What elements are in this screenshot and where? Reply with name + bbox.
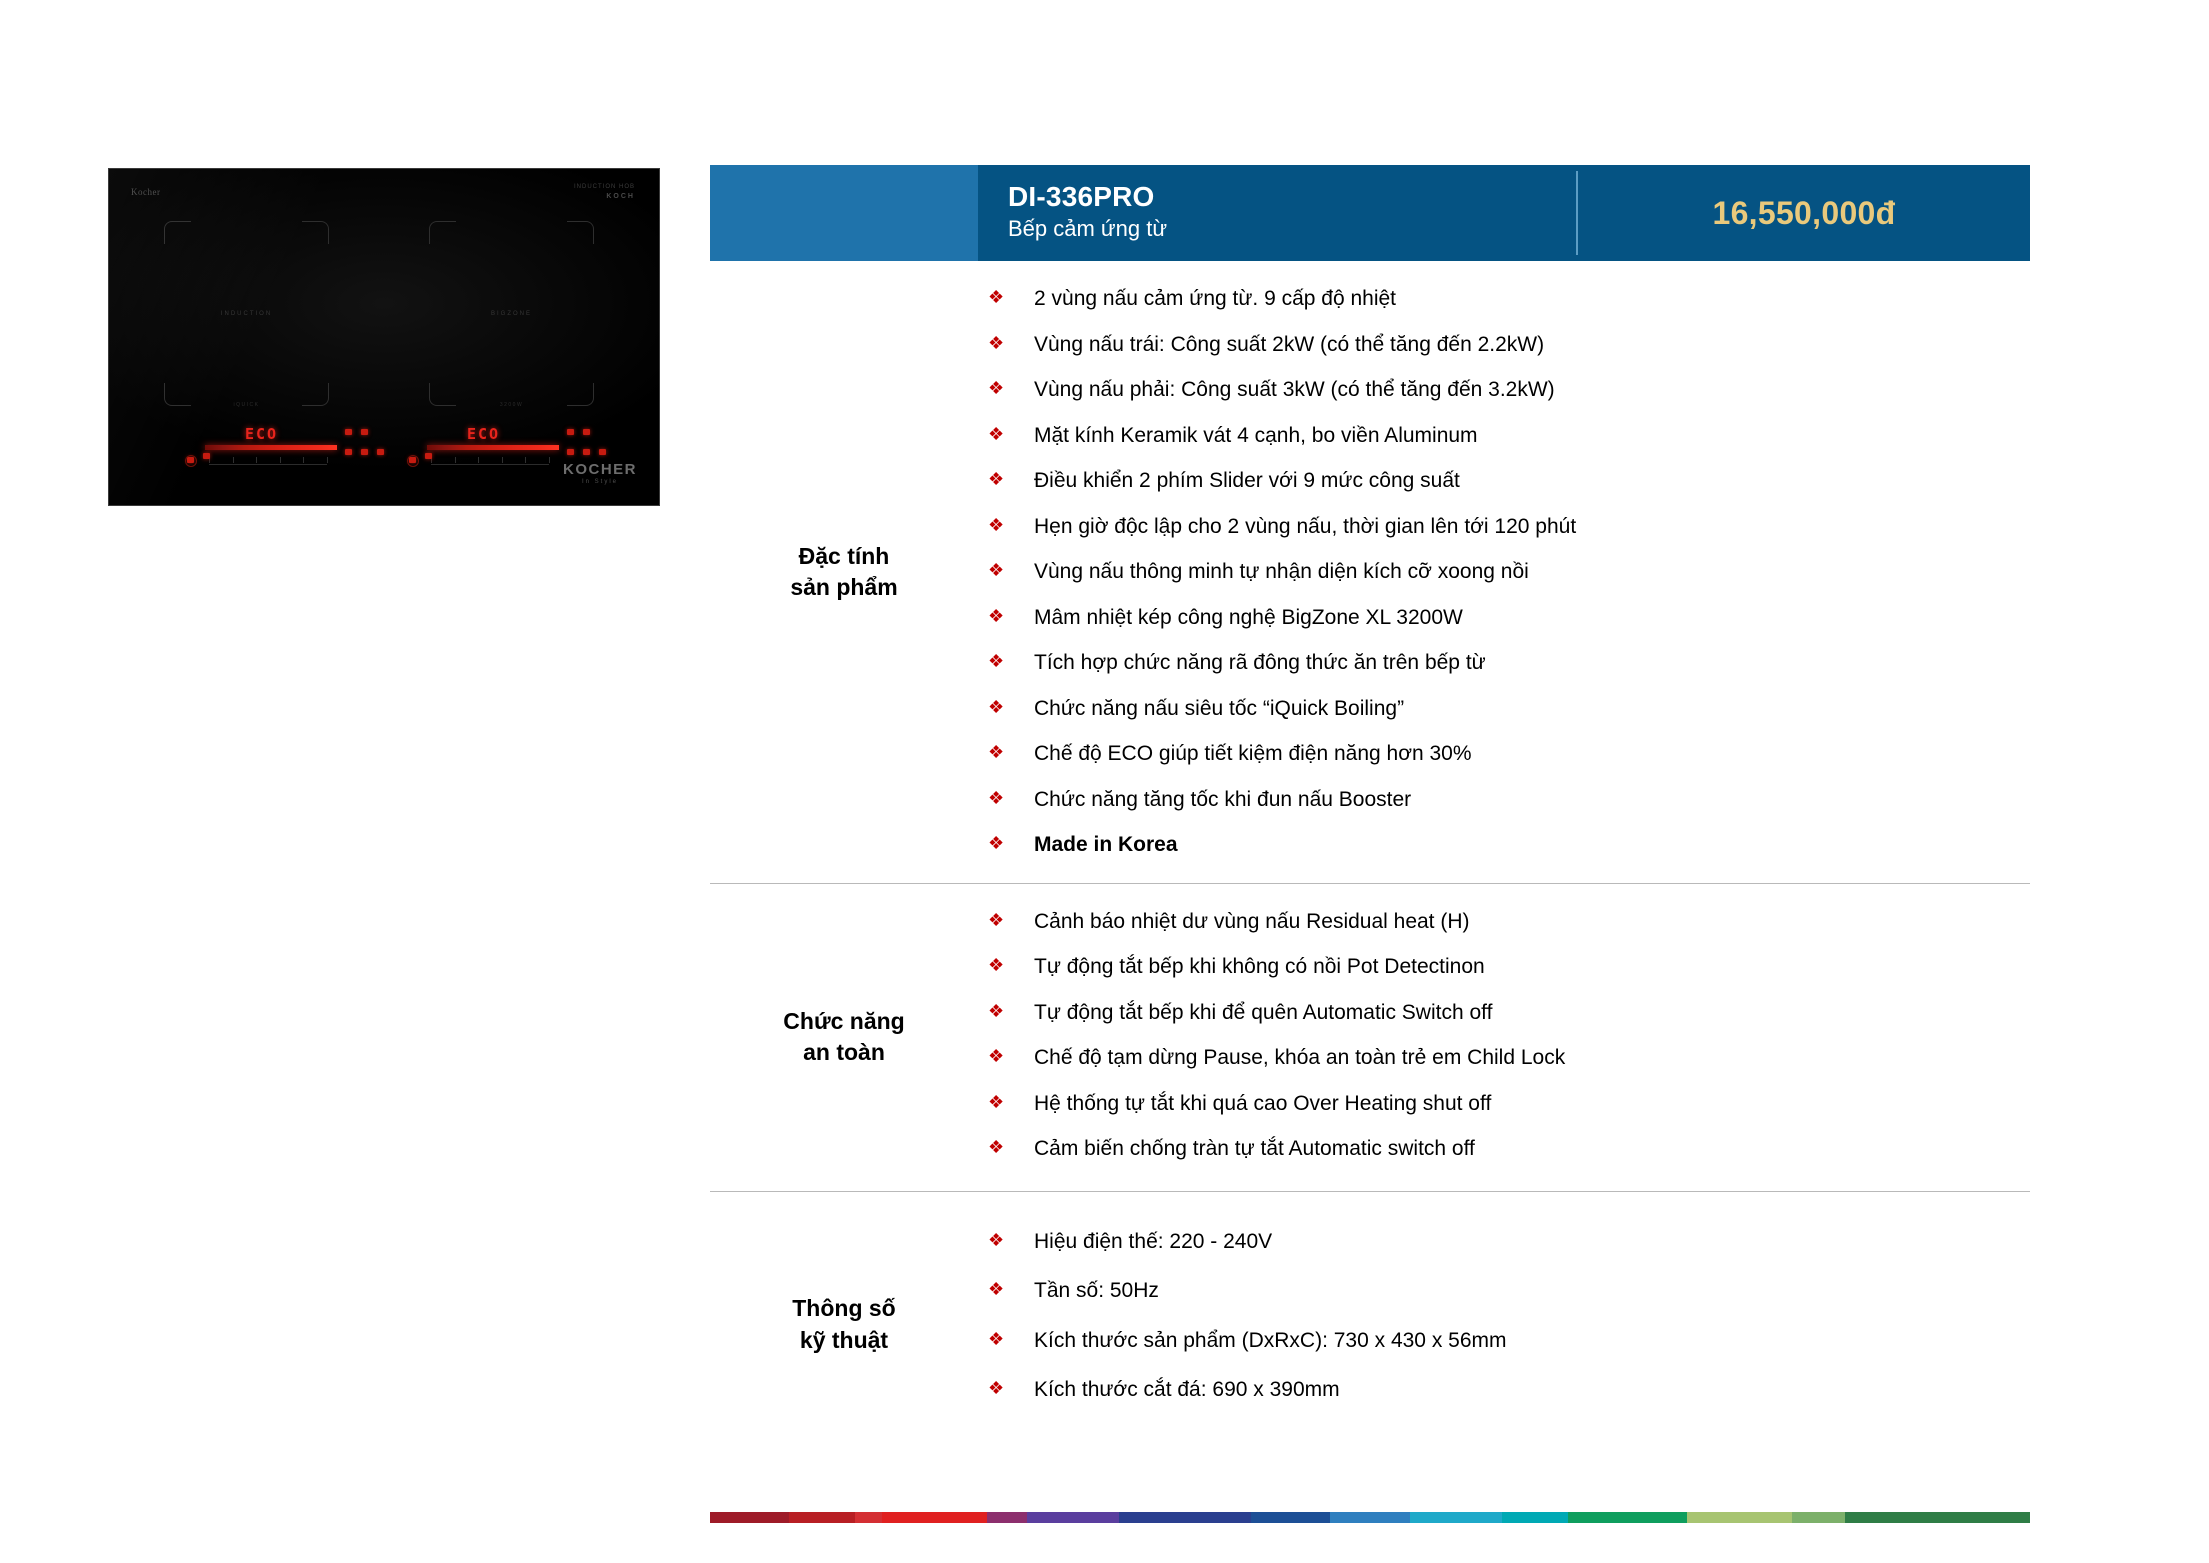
list-item: ❖ Hẹn giờ độc lập cho 2 vùng nấu, thời g…	[988, 511, 2030, 543]
list-item-label: Vùng nấu phải: Công suất 3kW (có thể tăn…	[1034, 374, 1555, 406]
cooktop-top-right-line1: INDUCTION HOB	[574, 183, 635, 192]
section-row-safety: Chức năng an toàn ❖ Cảnh báo nhiệt dư vù…	[710, 884, 2030, 1192]
list-item: ❖ Điều khiển 2 phím Slider với 9 mức côn…	[988, 465, 2030, 497]
bullet-diamond-icon: ❖	[988, 997, 1034, 1026]
list-item: ❖ Tự động tắt bếp khi không có nồi Pot D…	[988, 951, 2030, 983]
product-image: Kocher INDUCTION HOB KOCH INDUCTION iQUI…	[108, 168, 660, 506]
list-item-label: Kích thước sản phẩm (DxRxC): 730 x 430 x…	[1034, 1325, 1507, 1357]
list-item-label: Hẹn giờ độc lập cho 2 vùng nấu, thời gia…	[1034, 511, 1576, 543]
zone-corner-icon	[302, 221, 329, 244]
safety-list: ❖ Cảnh báo nhiệt dư vùng nấu Residual he…	[978, 884, 2030, 1191]
bullet-diamond-icon: ❖	[988, 420, 1034, 449]
zone-sublabel-right: 3200W	[429, 402, 594, 408]
list-item-label: Kích thước cắt đá: 690 x 390mm	[1034, 1374, 1340, 1406]
bullet-diamond-icon: ❖	[988, 556, 1034, 585]
list-item: ❖ Tần số: 50Hz	[988, 1275, 2030, 1307]
cooktop-top-right-mark: INDUCTION HOB KOCH	[574, 183, 635, 203]
pause-button-right[interactable]	[567, 449, 574, 455]
list-item: ❖ Kích thước cắt đá: 690 x 390mm	[988, 1374, 2030, 1406]
lock-button-left[interactable]	[203, 453, 210, 459]
footer-color-segment	[855, 1512, 881, 1523]
pause-button-left[interactable]	[345, 449, 352, 455]
list-item: ❖ Kích thước sản phẩm (DxRxC): 730 x 430…	[988, 1325, 2030, 1357]
control-panel-left[interactable]: ECO	[187, 427, 377, 473]
list-item-label: Mâm nhiệt kép công nghệ BigZone XL 3200W	[1034, 602, 1463, 634]
list-item-label: Tần số: 50Hz	[1034, 1275, 1159, 1307]
bullet-diamond-icon: ❖	[988, 829, 1034, 858]
section-label-features: Đặc tính sản phẩm	[710, 541, 978, 603]
list-item: ❖ Vùng nấu phải: Công suất 3kW (có thể t…	[988, 374, 2030, 406]
footer-color-segment	[1845, 1512, 2030, 1523]
list-item: ❖ Cảm biến chống tràn tự tắt Automatic s…	[988, 1133, 2030, 1165]
bullet-diamond-icon: ❖	[988, 329, 1034, 358]
specification-panel: DI-336PRO Bếp cảm ứng từ 16,550,000đ Đặc…	[710, 165, 2030, 1458]
list-item-label: Hệ thống tự tắt khi quá cao Over Heating…	[1034, 1088, 1491, 1120]
bullet-diamond-icon: ❖	[988, 1275, 1034, 1304]
display-eco-left: ECO	[245, 425, 278, 443]
list-item: ❖ Chế độ ECO giúp tiết kiệm điện năng hơ…	[988, 738, 2030, 770]
list-item: ❖ Mặt kính Keramik vát 4 cạnh, bo viền A…	[988, 420, 2030, 452]
cooking-zone-right: BIGZONE 3200W	[429, 221, 594, 406]
zone-corner-icon	[567, 221, 594, 244]
footer-color-segment	[710, 1512, 789, 1523]
header-accent-block	[710, 165, 978, 261]
section-label-line2: an toàn	[716, 1037, 972, 1068]
induction-cooktop-illustration: Kocher INDUCTION HOB KOCH INDUCTION iQUI…	[108, 168, 660, 506]
section-row-features: Đặc tính sản phẩm ❖ 2 vùng nấu cảm ứng t…	[710, 261, 2030, 884]
list-item-label: Chế độ tạm dừng Pause, khóa an toàn trẻ …	[1034, 1042, 1565, 1074]
zone-sublabel-left: iQUICK	[164, 402, 329, 408]
list-item-label: Vùng nấu thông minh tự nhận diện kích cỡ…	[1034, 556, 1529, 588]
list-item-label: Điều khiển 2 phím Slider với 9 mức công …	[1034, 465, 1460, 497]
product-price: 16,550,000đ	[1712, 195, 1895, 232]
zone-label-left: INDUCTION	[164, 311, 329, 317]
kocher-logo-tagline: In Style	[563, 479, 637, 485]
bullet-diamond-icon: ❖	[988, 906, 1034, 935]
list-item-label: Chức năng nấu siêu tốc “iQuick Boiling”	[1034, 693, 1404, 725]
bullet-diamond-icon: ❖	[988, 374, 1034, 403]
section-label-safety: Chức năng an toàn	[710, 1006, 978, 1068]
footer-color-segment	[789, 1512, 855, 1523]
bullet-diamond-icon: ❖	[988, 647, 1034, 676]
footer-color-segment	[1687, 1512, 1793, 1523]
list-item-label: Tự động tắt bếp khi không có nồi Pot Det…	[1034, 951, 1485, 983]
slider-scale-left	[209, 460, 327, 465]
eco-button-left[interactable]	[361, 449, 368, 455]
cooktop-top-right-line2: KOCH	[574, 192, 635, 203]
list-item-label: Hiệu điện thế: 220 - 240V	[1034, 1226, 1272, 1258]
section-label-line2: sản phẩm	[716, 572, 972, 603]
footer-color-segment	[1502, 1512, 1568, 1523]
power-slider-left[interactable]	[205, 445, 337, 450]
footer-color-segment	[1027, 1512, 1119, 1523]
feature-list: ❖ 2 vùng nấu cảm ứng từ. 9 cấp độ nhiệt …	[978, 261, 2030, 883]
bullet-diamond-icon: ❖	[988, 1374, 1034, 1403]
eco-button-right[interactable]	[583, 449, 590, 455]
list-item: ❖ Hệ thống tự tắt khi quá cao Over Heati…	[988, 1088, 2030, 1120]
list-item-label: Chức năng tăng tốc khi đun nấu Booster	[1034, 784, 1411, 816]
boost-button-right[interactable]	[583, 429, 590, 435]
list-item: ❖ Made in Korea	[988, 829, 2030, 861]
section-label-line1: Chức năng	[716, 1006, 972, 1037]
cooking-zone-left: INDUCTION iQUICK	[164, 221, 329, 406]
bullet-diamond-icon: ❖	[988, 951, 1034, 980]
section-label-line2: kỹ thuật	[716, 1325, 972, 1356]
list-item: ❖ Hiệu điện thế: 220 - 240V	[988, 1226, 2030, 1258]
lock-button-right[interactable]	[425, 453, 432, 459]
slider-scale-right	[431, 460, 549, 465]
footer-color-segment	[1792, 1512, 1845, 1523]
list-item: ❖ Cảnh báo nhiệt dư vùng nấu Residual he…	[988, 906, 2030, 938]
boost-button-left[interactable]	[361, 429, 368, 435]
list-item: ❖ Mâm nhiệt kép công nghệ BigZone XL 320…	[988, 602, 2030, 634]
bullet-diamond-icon: ❖	[988, 1325, 1034, 1354]
footer-color-segment	[882, 1512, 988, 1523]
bullet-diamond-icon: ❖	[988, 283, 1034, 312]
list-item: ❖ 2 vùng nấu cảm ứng từ. 9 cấp độ nhiệt	[988, 283, 2030, 315]
bullet-diamond-icon: ❖	[988, 1133, 1034, 1162]
kocher-logo-text: KOCHER	[563, 461, 637, 478]
list-item-label: 2 vùng nấu cảm ứng từ. 9 cấp độ nhiệt	[1034, 283, 1396, 315]
list-item-label: Vùng nấu trái: Công suất 2kW (có thể tăn…	[1034, 329, 1544, 361]
footer-color-segment	[1330, 1512, 1409, 1523]
bullet-diamond-icon: ❖	[988, 465, 1034, 494]
footer-color-segment	[1119, 1512, 1251, 1523]
bullet-diamond-icon: ❖	[988, 738, 1034, 767]
list-item: ❖ Vùng nấu thông minh tự nhận diện kích …	[988, 556, 2030, 588]
bullet-diamond-icon: ❖	[988, 511, 1034, 540]
power-button-ring-icon	[185, 455, 197, 467]
list-item: ❖ Chức năng tăng tốc khi đun nấu Booster	[988, 784, 2030, 816]
power-slider-right[interactable]	[427, 445, 559, 450]
zone-corner-icon	[164, 221, 191, 244]
list-item: ❖ Chức năng nấu siêu tốc “iQuick Boiling…	[988, 693, 2030, 725]
list-item-label: Tích hợp chức năng rã đông thức ăn trên …	[1034, 647, 1486, 679]
child-lock-button-left[interactable]	[377, 449, 384, 455]
product-header: DI-336PRO Bếp cảm ứng từ 16,550,000đ	[710, 165, 2030, 261]
footer-color-segment	[1568, 1512, 1687, 1523]
footer-color-bar	[710, 1512, 2030, 1523]
section-label-line1: Đặc tính	[716, 541, 972, 572]
specs-list: ❖ Hiệu điện thế: 220 - 240V ❖ Tần số: 50…	[978, 1192, 2030, 1458]
section-label-line1: Thông số	[716, 1293, 972, 1324]
zone-corner-icon	[429, 221, 456, 244]
product-subtitle: Bếp cảm ứng từ	[1008, 215, 1578, 244]
list-item: ❖ Tự động tắt bếp khi để quên Automatic …	[988, 997, 2030, 1029]
bullet-diamond-icon: ❖	[988, 784, 1034, 813]
child-lock-button-right[interactable]	[599, 449, 606, 455]
list-item-label: Cảnh báo nhiệt dư vùng nấu Residual heat…	[1034, 906, 1470, 938]
list-item-label: Chế độ ECO giúp tiết kiệm điện năng hơn …	[1034, 738, 1472, 770]
timer-button-right[interactable]	[567, 429, 574, 435]
cooktop-top-left-mark: Kocher	[131, 187, 161, 197]
product-model-title: DI-336PRO	[1008, 181, 1578, 213]
footer-color-segment	[1251, 1512, 1330, 1523]
bullet-diamond-icon: ❖	[988, 1088, 1034, 1117]
list-item-label: Made in Korea	[1034, 829, 1178, 861]
kocher-logo: KOCHER In Style	[563, 461, 637, 485]
section-label-specs: Thông số kỹ thuật	[710, 1293, 978, 1355]
zone-label-right: BIGZONE	[429, 311, 594, 317]
power-button-ring-icon	[407, 455, 419, 467]
list-item: ❖ Chế độ tạm dừng Pause, khóa an toàn tr…	[988, 1042, 2030, 1074]
list-item-label: Tự động tắt bếp khi để quên Automatic Sw…	[1034, 997, 1492, 1029]
bullet-diamond-icon: ❖	[988, 1226, 1034, 1255]
footer-color-segment	[1410, 1512, 1502, 1523]
list-item: ❖ Vùng nấu trái: Công suất 2kW (có thể t…	[988, 329, 2030, 361]
timer-button-left[interactable]	[345, 429, 352, 435]
section-row-specs: Thông số kỹ thuật ❖ Hiệu điện thế: 220 -…	[710, 1192, 2030, 1458]
list-item: ❖ Tích hợp chức năng rã đông thức ăn trê…	[988, 647, 2030, 679]
display-eco-right: ECO	[467, 425, 500, 443]
bullet-diamond-icon: ❖	[988, 693, 1034, 722]
list-item-label: Cảm biến chống tràn tự tắt Automatic swi…	[1034, 1133, 1475, 1165]
list-item-label: Mặt kính Keramik vát 4 cạnh, bo viền Alu…	[1034, 420, 1478, 452]
bullet-diamond-icon: ❖	[988, 602, 1034, 631]
bullet-diamond-icon: ❖	[988, 1042, 1034, 1071]
footer-color-segment	[987, 1512, 1027, 1523]
price-block: 16,550,000đ	[1578, 165, 2030, 261]
header-title-block: DI-336PRO Bếp cảm ứng từ	[978, 165, 1578, 261]
